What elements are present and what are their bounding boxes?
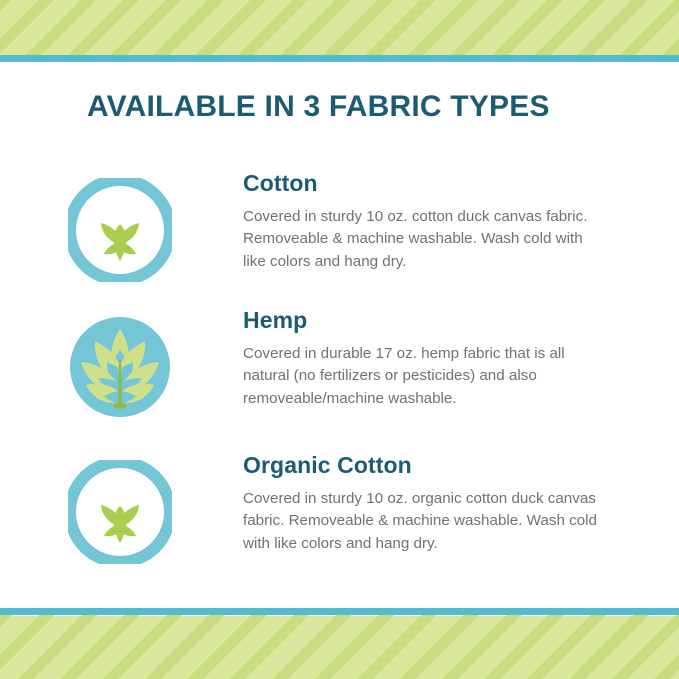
cotton-boll-icon: [68, 178, 172, 282]
hemp-leaf-icon: [68, 315, 172, 419]
page-title: AVAILABLE IN 3 FABRIC TYPES: [87, 90, 550, 124]
top-decorative-band: [0, 0, 679, 62]
bottom-band-diagonal-pattern: [0, 608, 679, 679]
top-band-green-fill: [0, 0, 679, 55]
feature-text-cotton: Cotton Covered in sturdy 10 oz. cotton d…: [243, 170, 623, 273]
bottom-band-green-fill: [0, 616, 679, 679]
feature-text-organic-cotton: Organic Cotton Covered in sturdy 10 oz. …: [243, 452, 623, 555]
feature-description: Covered in sturdy 10 oz. organic cotton …: [243, 488, 603, 554]
feature-description: Covered in durable 17 oz. hemp fabric th…: [243, 343, 603, 409]
feature-text-hemp: Hemp Covered in durable 17 oz. hemp fabr…: [243, 307, 623, 410]
bottom-band-teal-rule: [0, 608, 679, 615]
top-band-teal-rule: [0, 55, 679, 62]
feature-heading: Hemp: [243, 307, 623, 333]
feature-heading: Cotton: [243, 170, 623, 196]
feature-description: Covered in sturdy 10 oz. cotton duck can…: [243, 206, 603, 272]
top-band-diagonal-pattern: [0, 0, 679, 62]
organic-cotton-boll-icon: [68, 460, 172, 564]
feature-heading: Organic Cotton: [243, 452, 623, 478]
bottom-decorative-band: [0, 608, 679, 679]
fabric-types-infographic: AVAILABLE IN 3 FABRIC TYPES Cotton Cover…: [0, 0, 679, 679]
